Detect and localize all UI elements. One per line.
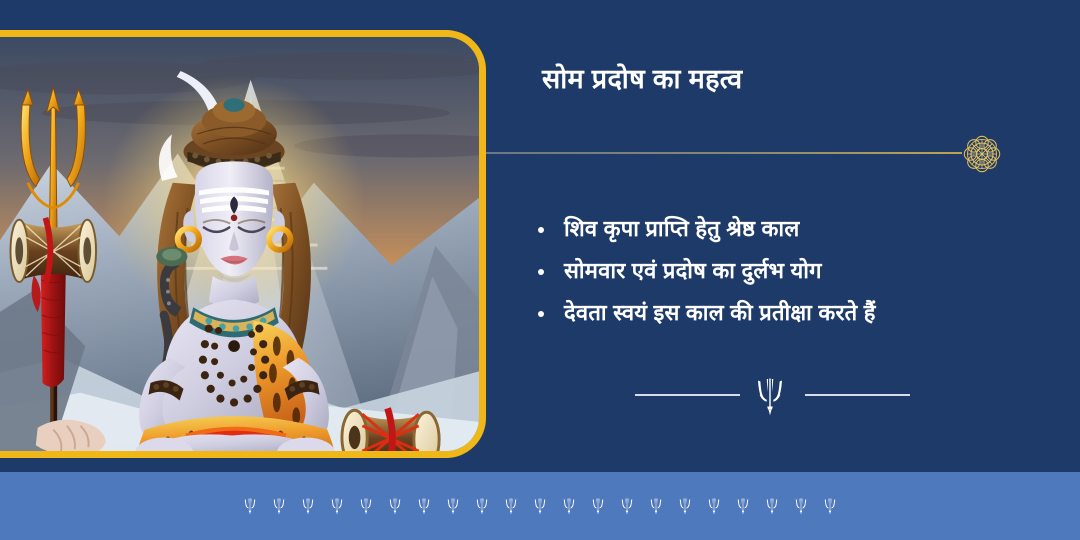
bullet-marker-icon	[538, 227, 544, 233]
trishul-icon	[443, 490, 463, 522]
list-item: देवता स्वयं इस काल की प्रतीक्षा करते हैं	[538, 298, 1058, 340]
trishul-pattern-row	[0, 472, 1080, 540]
list-item-label: शिव कृपा प्राप्ति हेतु श्रेष्ठ काल	[564, 214, 799, 244]
trishul-icon	[588, 490, 608, 522]
trishul-icon	[472, 490, 492, 522]
trishul-icon	[298, 490, 318, 522]
trishul-icon	[733, 490, 753, 522]
list-item: शिव कृपा प्राप्ति हेतु श्रेष्ठ काल	[538, 214, 1058, 256]
list-item: सोमवार एवं प्रदोष का दुर्लभ योग	[538, 256, 1058, 298]
mandala-rosette-icon	[956, 128, 1008, 180]
list-item-label: सोमवार एवं प्रदोष का दुर्लभ योग	[564, 256, 822, 286]
damru-drum	[342, 408, 439, 451]
page-title: सोम प्रदोष का महत्व	[542, 59, 742, 96]
trishul-icon	[675, 490, 695, 522]
bullet-marker-icon	[538, 311, 544, 317]
divider-line	[470, 152, 962, 154]
trishul-icon	[356, 490, 376, 522]
trishul-icon	[414, 490, 434, 522]
trishul-icon	[617, 490, 637, 522]
trishul-icon	[762, 490, 782, 522]
trishul-icon	[791, 490, 811, 522]
header-divider	[470, 145, 1030, 161]
list-item-label: देवता स्वयं इस काल की प्रतीक्षा करते हैं	[564, 298, 876, 328]
trishul-icon	[704, 490, 724, 522]
trishul-icon	[820, 490, 840, 522]
shiva-image-card	[0, 30, 486, 458]
footer-pattern-strip	[0, 472, 1080, 540]
trishul-icon	[559, 490, 579, 522]
trishul-icon	[385, 490, 405, 522]
trishul-icon	[240, 490, 260, 522]
bullet-marker-icon	[538, 269, 544, 275]
trishul-icon	[646, 490, 666, 522]
trishul-icon	[530, 490, 550, 522]
section-divider	[635, 378, 905, 412]
trishul-icon	[327, 490, 347, 522]
trishul-icon	[269, 490, 289, 522]
benefits-list: शिव कृपा प्राप्ति हेतु श्रेष्ठ काल सोमवा…	[538, 214, 1058, 340]
divider-line-left	[635, 394, 740, 396]
poster-canvas: सोम प्रदोष का महत्व शिव कृपा प	[0, 0, 1080, 540]
divider-line-right	[805, 394, 910, 396]
trishul-icon	[747, 376, 793, 416]
shiva-illustration	[0, 37, 479, 451]
trishul-icon	[501, 490, 521, 522]
